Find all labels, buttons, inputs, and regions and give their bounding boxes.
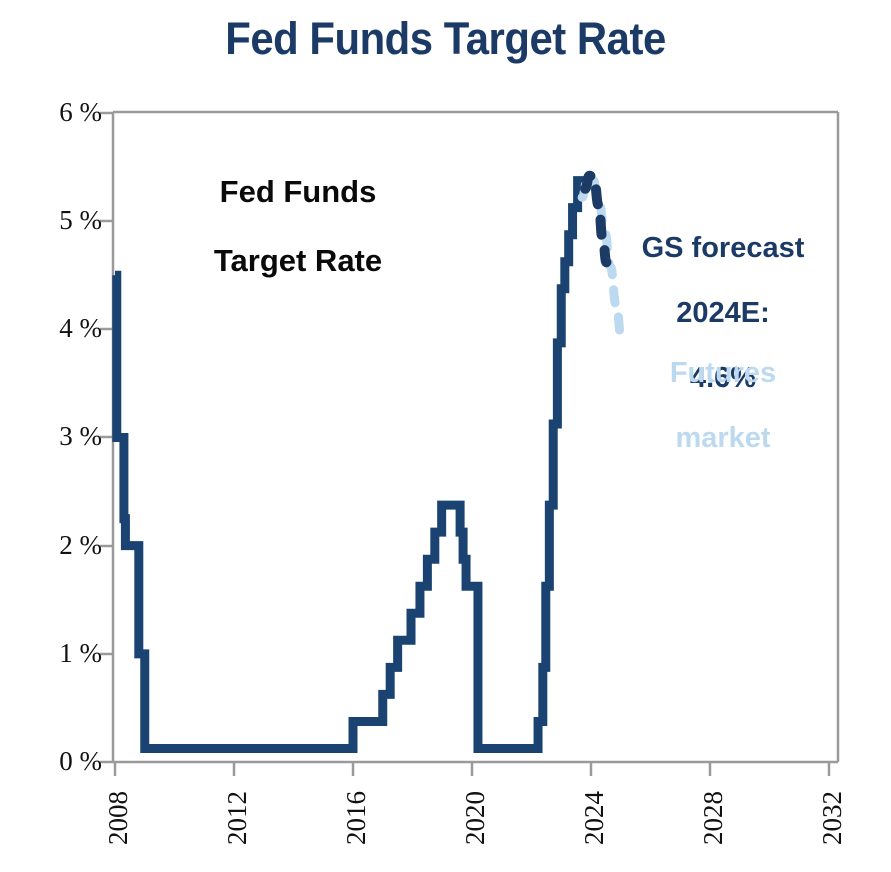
x-tick-label-2020: 2020 <box>462 791 489 845</box>
x-tick-label-2032: 2032 <box>819 791 846 845</box>
x-tick-label-2016: 2016 <box>343 791 370 845</box>
x-tick-label-2008: 2008 <box>105 791 132 845</box>
annotation-futures-market: Futures market <box>618 325 828 455</box>
x-tick-label-2024: 2024 <box>581 791 608 845</box>
chart-root: Fed Funds Target Rate <box>0 0 891 872</box>
annotation-futures-line2: market <box>675 422 770 454</box>
annotation-gs-line1: GS forecast <box>642 232 805 264</box>
annotation-series-line2: Target Rate <box>214 243 382 278</box>
annotation-futures-line1: Futures <box>670 357 776 389</box>
annotation-series-label: Fed Funds Target Rate <box>178 140 418 279</box>
x-tick-label-2012: 2012 <box>224 791 251 845</box>
annotation-series-line1: Fed Funds <box>220 174 377 209</box>
x-tick-label-2028: 2028 <box>700 791 727 845</box>
